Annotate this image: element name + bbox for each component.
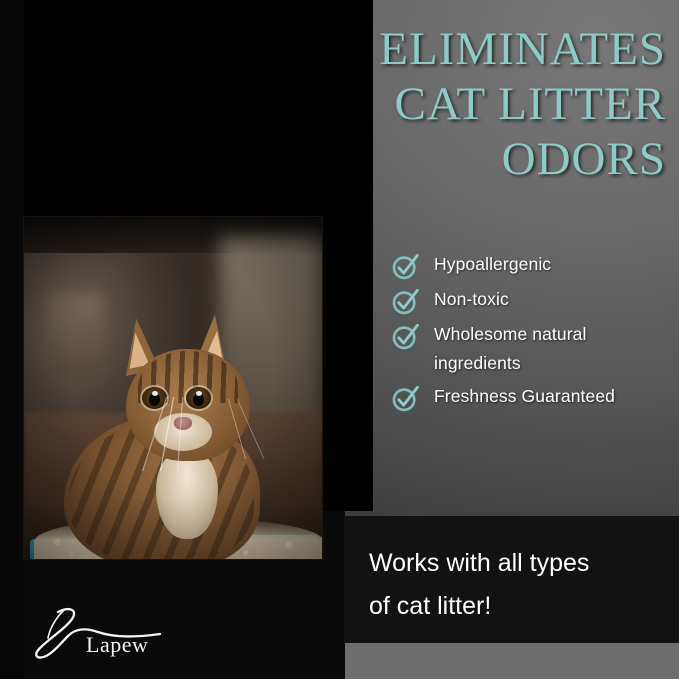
benefit-label: Non-toxic	[434, 285, 509, 314]
headline-line-1: ELIMINATES	[300, 22, 666, 77]
check-circle-icon	[390, 321, 420, 351]
callout-text: Works with all types of cat litter!	[369, 542, 669, 628]
benefit-item-freshness-guaranteed: Freshness Guaranteed	[390, 382, 670, 413]
headline-line-3: ODORS	[300, 132, 666, 187]
benefit-item-hypoallergenic: Hypoallergenic	[390, 250, 670, 281]
check-circle-icon	[390, 383, 420, 413]
benefit-item-wholesome-natural-ingredients: Wholesome natural ingredients	[390, 320, 670, 378]
benefit-item-non-toxic: Non-toxic	[390, 285, 670, 316]
benefits-list: Hypoallergenic Non-toxic Wholesome natur…	[390, 250, 670, 417]
check-circle-icon	[390, 251, 420, 281]
photo-vignette	[24, 217, 322, 559]
headline: ELIMINATES CAT LITTER ODORS	[300, 22, 666, 187]
benefit-label: Hypoallergenic	[434, 250, 551, 279]
headline-line-2: CAT LITTER	[300, 77, 666, 132]
background-bottom-strip	[345, 643, 679, 679]
brand-logo: Lapew	[20, 604, 180, 664]
product-ad-image: ELIMINATES CAT LITTER ODORS Hypoallergen…	[0, 0, 679, 679]
callout-line-1: Works with all types	[369, 542, 669, 585]
check-circle-icon	[390, 286, 420, 316]
brand-name: Lapew	[86, 632, 148, 658]
benefit-label: Freshness Guaranteed	[434, 382, 615, 411]
product-photo	[24, 217, 322, 559]
callout-line-2: of cat litter!	[369, 585, 669, 628]
benefit-label: Wholesome natural ingredients	[434, 320, 670, 378]
callout-box: Works with all types of cat litter!	[344, 516, 679, 643]
background-left-edge	[0, 0, 24, 679]
